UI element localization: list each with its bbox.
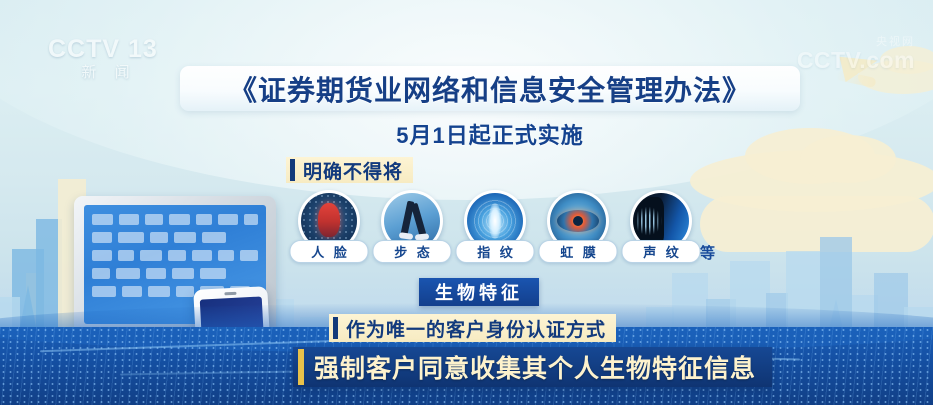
broadcast-graphic: CCTV 13 新 闻 央视网 CCTV.com 《证券期货业网络和信息安全管理… [0,0,933,405]
biometric-item-iris: 虹 膜 [545,190,611,252]
sole-authentication-text: 作为唯一的客户身份认证方式 [346,315,616,342]
gold-accent-bar [298,349,304,385]
watermark-domain-label: CCTV.com [797,48,915,73]
biometric-label: 指 纹 [456,240,535,263]
etcetera-label: 等 [700,242,715,263]
page-title: 《证券期货业网络和信息安全管理办法》 [180,66,800,111]
biometric-label: 步 态 [373,240,452,263]
accent-bar [333,317,338,339]
cctv-com-watermark: 央视网 CCTV.com [797,36,915,73]
biometric-item-voiceprint: 声 纹 [628,190,694,252]
forced-consent-banner: 强制客户同意收集其个人生物特征信息 [293,347,772,387]
sole-authentication-line: 作为唯一的客户身份认证方式 [329,314,616,342]
cctv13-channel-logo: CCTV 13 新 闻 [48,36,166,88]
cctv13-logo-line2: 新 闻 [48,63,166,83]
tablet-camera-icon [224,292,236,296]
biometric-item-fingerprint: 指 纹 [462,190,528,252]
forced-consent-text: 强制客户同意收集其个人生物特征信息 [314,349,772,385]
biometric-item-face: 人 脸 [296,190,362,252]
accent-bar [290,159,295,181]
biometric-category-badge: 生物特征 [419,278,539,306]
cctv13-logo-line1: CCTV 13 [48,36,166,63]
page-subtitle: 5月1日起正式实施 [180,118,800,150]
prohibition-lead-text: 明确不得将 [303,157,413,184]
biometric-label: 人 脸 [290,240,369,263]
prohibition-lead-line: 明确不得将 [286,157,413,183]
biometric-item-gait: 步 态 [379,190,445,252]
biometric-label: 虹 膜 [539,240,618,263]
biometric-label: 声 纹 [622,240,701,263]
biometric-icon-row: 人 脸 步 态 指 纹 虹 膜 声 纹 等 [296,190,716,272]
